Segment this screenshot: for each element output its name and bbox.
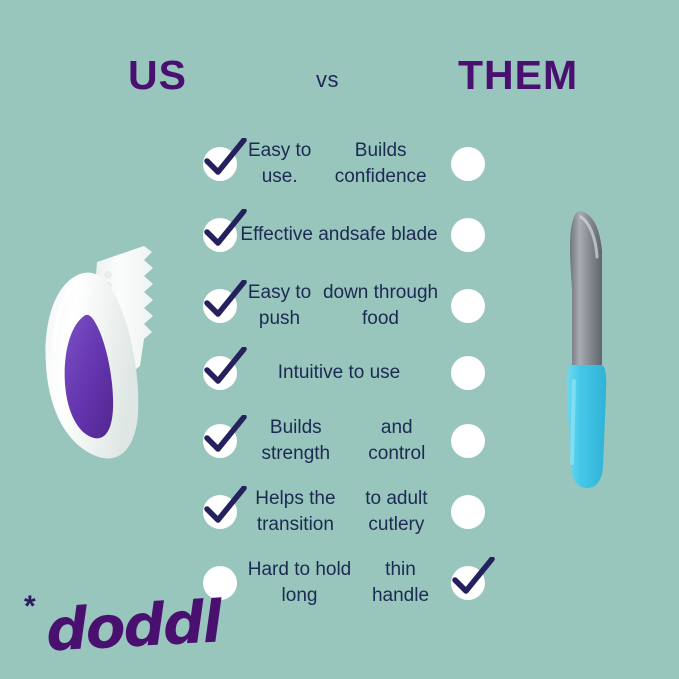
checked-mark[interactable] — [203, 289, 237, 323]
empty-mark[interactable] — [451, 424, 485, 458]
checked-mark[interactable] — [203, 218, 237, 252]
feature-label: Helps the transitionto adult cutlery — [238, 476, 440, 547]
feature-label: Builds strengthand control — [238, 405, 440, 476]
checked-mark[interactable] — [451, 566, 485, 600]
circle-icon — [451, 147, 485, 181]
mark-cell-right[interactable] — [438, 476, 498, 547]
circle-icon — [451, 289, 485, 323]
checked-mark[interactable] — [203, 495, 237, 529]
checked-mark[interactable] — [203, 424, 237, 458]
feature-label: Easy to use.Builds confidence — [238, 128, 440, 199]
logo-wordmark: doddl — [44, 587, 222, 664]
logo-asterisk-icon: * — [24, 590, 36, 624]
empty-mark[interactable] — [451, 356, 485, 390]
brand-logo-doddl: * doddl — [18, 588, 208, 658]
feature-label: Easy to pushdown through food — [238, 270, 440, 341]
circle-icon — [451, 218, 485, 252]
empty-mark[interactable] — [451, 289, 485, 323]
mark-cell-right[interactable] — [438, 405, 498, 476]
feature-label: Intuitive to use — [238, 341, 440, 405]
mark-cell-right[interactable] — [438, 547, 498, 618]
mark-cell-right[interactable] — [438, 128, 498, 199]
checkmark-icon — [448, 557, 496, 601]
column-heading-us: US — [128, 52, 187, 99]
column-heading-them: THEM — [458, 52, 578, 99]
checked-mark[interactable] — [203, 356, 237, 390]
comparison-row: Easy to use.Builds confidence — [0, 128, 679, 199]
mark-cell-right[interactable] — [438, 341, 498, 405]
empty-mark[interactable] — [451, 495, 485, 529]
mark-cell-right[interactable] — [438, 199, 498, 270]
circle-icon — [451, 356, 485, 390]
product-image-doddl-knife — [40, 238, 195, 468]
feature-label: Hard to hold longthin handle — [238, 547, 440, 618]
product-image-conventional-knife — [548, 205, 632, 495]
checked-mark[interactable] — [203, 147, 237, 181]
empty-mark[interactable] — [451, 218, 485, 252]
infographic-canvas: US vs THEM Easy to use.Builds confidence… — [0, 0, 679, 679]
circle-icon — [451, 495, 485, 529]
column-heading-vs: vs — [316, 67, 339, 93]
circle-icon — [451, 424, 485, 458]
feature-label: Effective andsafe blade — [238, 199, 440, 270]
empty-mark[interactable] — [451, 147, 485, 181]
mark-cell-right[interactable] — [438, 270, 498, 341]
